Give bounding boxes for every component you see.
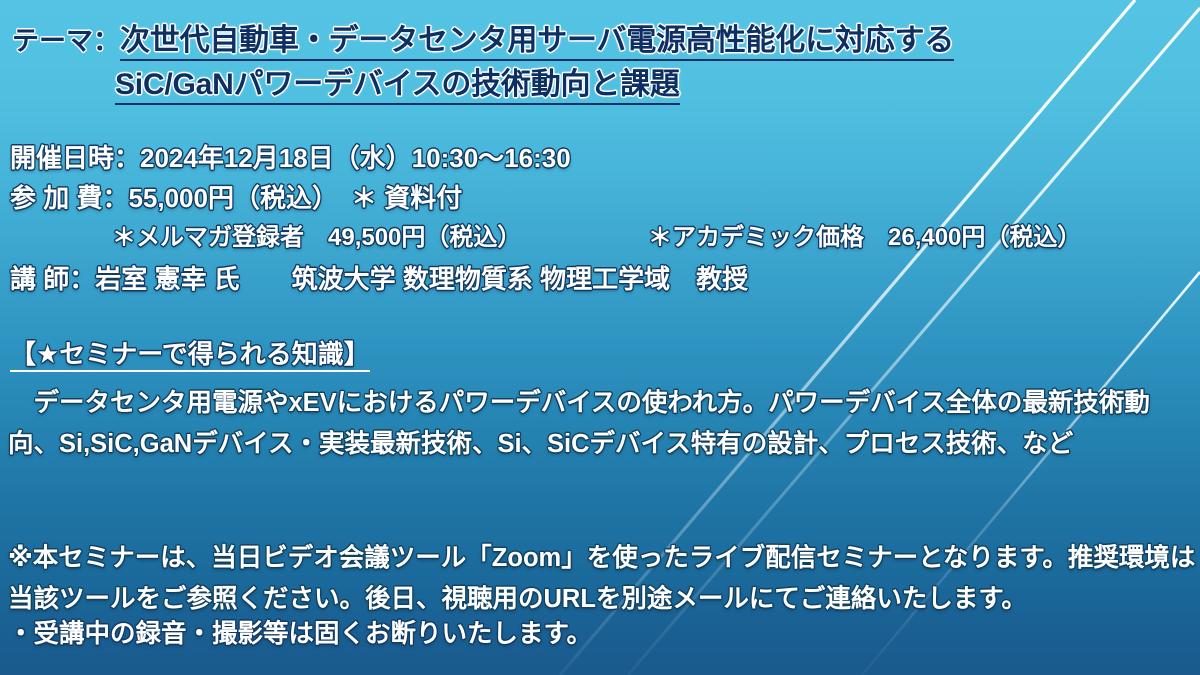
event-fee: 参 加 費：55,000円（税込） ＊ 資料付	[10, 185, 462, 211]
notice-body: ※本セミナーは、当日ビデオ会議ツール「Zoom」を使ったライブ配信セミナーとなり…	[8, 538, 1196, 620]
title-line-2: SiC/GaNパワーデバイスの技術動向と課題	[115, 68, 680, 105]
title-line-1: 次世代自動車・データセンタ用サーバ電源高性能化に対応する	[120, 24, 954, 61]
knowledge-body: データセンタ用電源やxEVにおけるパワーデバイスの使われ方。パワーデバイス全体の…	[8, 383, 1194, 465]
event-fee-academic: ＊アカデミック価格 26,400円（税込）	[648, 226, 1081, 250]
event-lecturer: 講 師：岩室 憲幸 氏 筑波大学 数理物質系 物理工学域 教授	[10, 266, 748, 292]
theme-label-row: テーマ：次世代自動車・データセンタ用サーバ電源高性能化に対応する	[12, 26, 954, 56]
seminar-slide: テーマ：次世代自動車・データセンタ用サーバ電源高性能化に対応する SiC/GaN…	[0, 0, 1200, 675]
theme-label: テーマ：	[12, 26, 120, 56]
notice-recording-prohibited: ・受講中の録音・撮影等は固くお断りいたします。	[8, 622, 592, 648]
event-fee-mailmagazine: ＊メルマガ登録者 49,500円（税込）	[112, 226, 521, 250]
knowledge-heading: 【★セミナーで得られる知識】	[10, 339, 370, 372]
slide-content: テーマ：次世代自動車・データセンタ用サーバ電源高性能化に対応する SiC/GaN…	[0, 0, 1200, 675]
event-datetime: 開催日時：2024年12月18日（水）10:30〜16:30	[10, 145, 571, 171]
knowledge-heading-row: 【★セミナーで得られる知識】	[10, 341, 370, 367]
title-line-2-row: SiC/GaNパワーデバイスの技術動向と課題	[115, 70, 680, 100]
